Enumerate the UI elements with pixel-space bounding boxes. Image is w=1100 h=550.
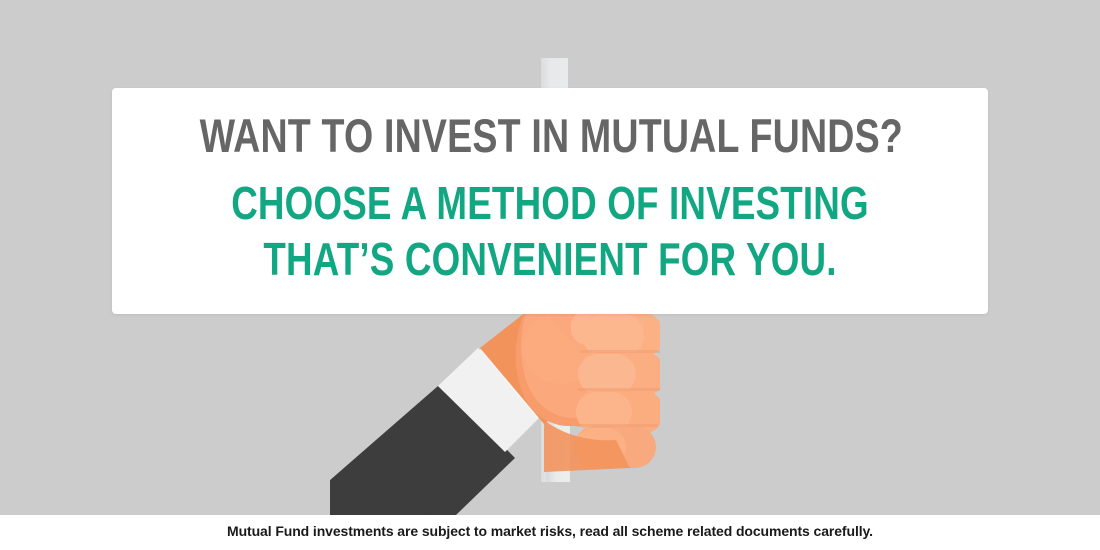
poster-canvas: WANT TO INVEST IN MUTUAL FUNDS? CHOOSE A… (0, 0, 1100, 550)
hand-illustration (330, 300, 660, 515)
disclaimer-text: Mutual Fund investments are subject to m… (0, 523, 1100, 539)
message-card: WANT TO INVEST IN MUTUAL FUNDS? CHOOSE A… (112, 88, 988, 314)
footer-bar: Mutual Fund investments are subject to m… (0, 515, 1100, 550)
subheadline: CHOOSE A METHOD OF INVESTING THAT’S CONV… (200, 175, 901, 287)
subheadline-line-1: CHOOSE A METHOD OF INVESTING (200, 175, 901, 231)
page-title: WANT TO INVEST IN MUTUAL FUNDS? (200, 108, 901, 164)
subheadline-line-2: THAT’S CONVENIENT FOR YOU. (200, 231, 901, 287)
